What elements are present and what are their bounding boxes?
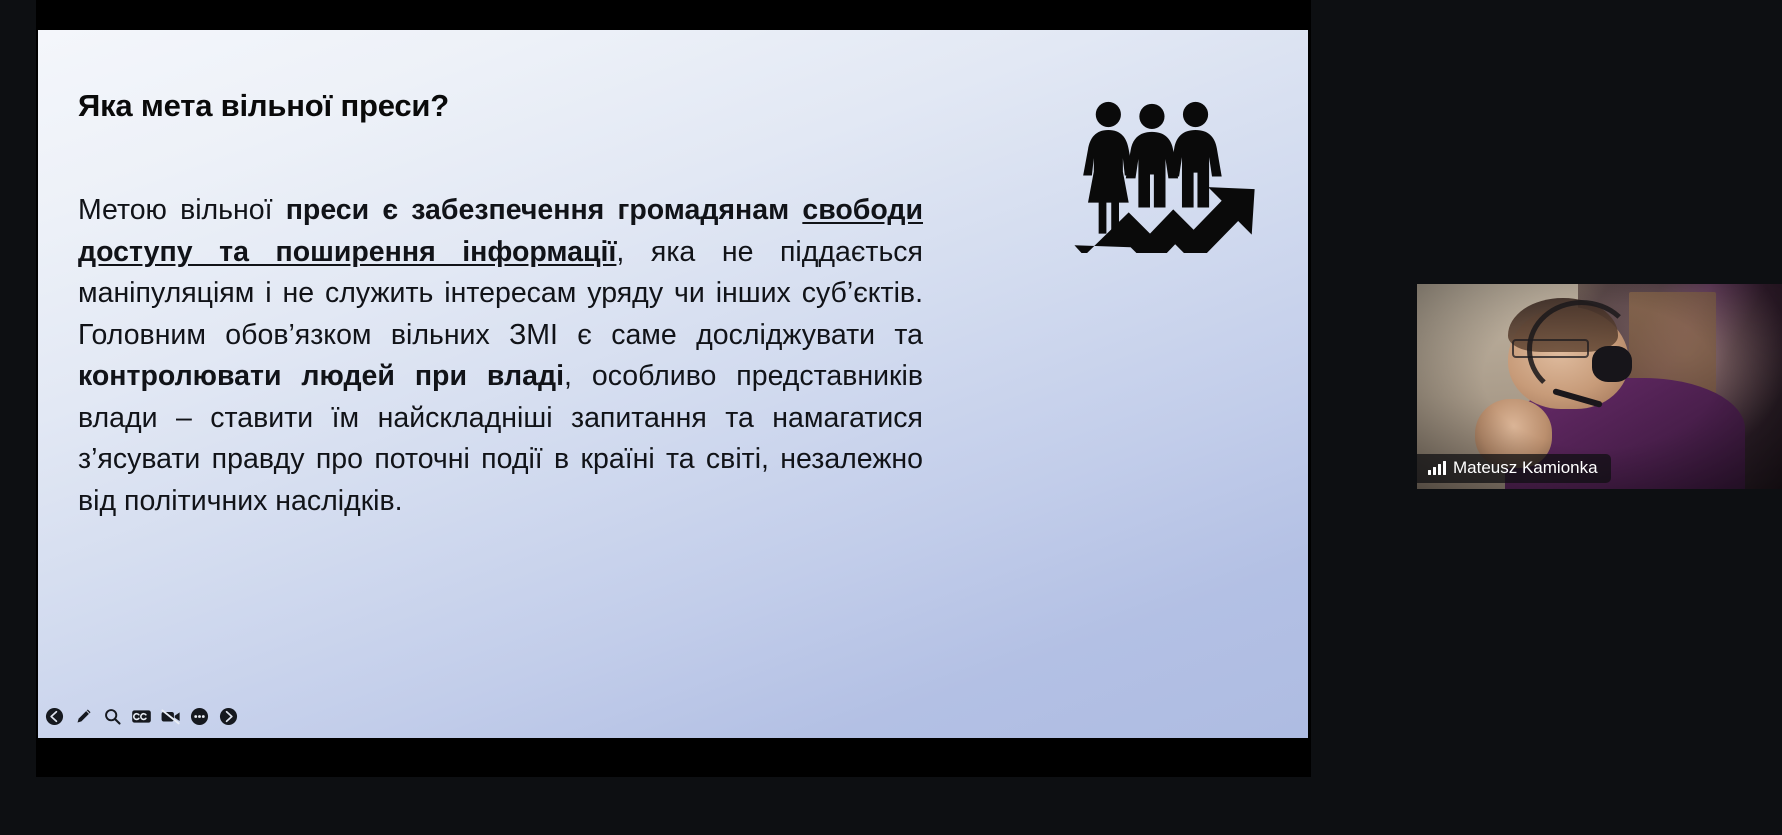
closed-caption-icon[interactable] xyxy=(131,706,152,727)
forward-arrow-icon[interactable] xyxy=(218,706,239,727)
body-segment-0: Метою вільної xyxy=(78,194,286,226)
slide-title: Яка мета вільної преси? xyxy=(78,88,449,124)
camera-off-icon[interactable] xyxy=(160,706,181,727)
slide-toolbar xyxy=(38,702,1308,730)
signal-bars-icon xyxy=(1428,461,1446,475)
participant-name-badge: Mateusz Kamionka xyxy=(1417,454,1611,483)
participant-name-label: Mateusz Kamionka xyxy=(1453,458,1598,478)
magnifier-icon[interactable] xyxy=(102,706,123,727)
screen-share-stage: Яка мета вільної преси? xyxy=(36,0,1311,777)
people-growth-arrow-icon xyxy=(1068,98,1263,253)
pen-icon[interactable] xyxy=(73,706,94,727)
slide-body-text: Метою вільної преси є забезпечення грома… xyxy=(78,190,923,522)
body-segment-4: контролювати людей при владі xyxy=(78,360,564,392)
participant-video-tile[interactable]: Mateusz Kamionka xyxy=(1417,284,1782,489)
body-segment-1: преси є забезпечення громадянам xyxy=(286,194,803,226)
meeting-window: Яка мета вільної преси? xyxy=(0,0,1782,835)
more-options-icon[interactable] xyxy=(189,706,210,727)
presentation-slide: Яка мета вільної преси? xyxy=(38,30,1308,738)
back-arrow-icon[interactable] xyxy=(44,706,65,727)
